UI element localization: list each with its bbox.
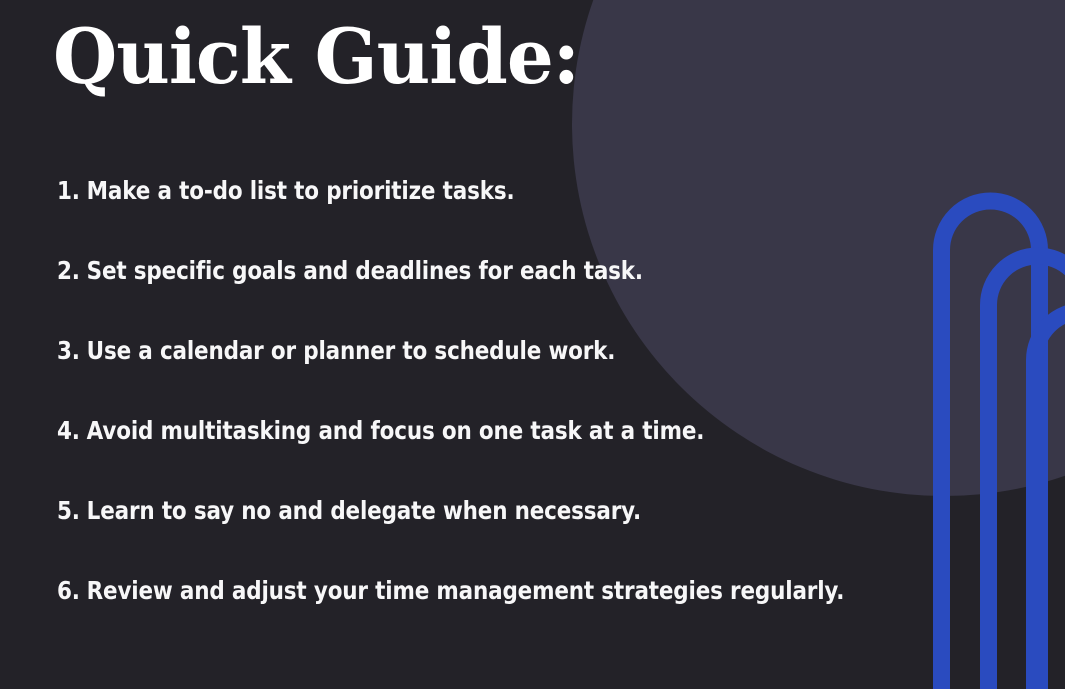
list-item-label: Make a to-do list to prioritize tasks.: [87, 178, 515, 203]
list-item: 2. Set specific goals and deadlines for …: [57, 230, 883, 310]
list-item-label: Learn to say no and delegate when necess…: [87, 498, 641, 523]
list-item-label: Review and adjust your time management s…: [87, 578, 845, 603]
list-item-number: 5.: [57, 498, 80, 523]
poster-canvas: Quick Guide: 1. Make a to-do list to pri…: [0, 0, 1065, 689]
list-item-number: 1.: [57, 178, 80, 203]
list-item: 1. Make a to-do list to prioritize tasks…: [57, 150, 883, 230]
page-title: Quick Guide:: [53, 19, 579, 95]
list-item: 3. Use a calendar or planner to schedule…: [57, 310, 883, 390]
poster-content: Quick Guide: 1. Make a to-do list to pri…: [0, 0, 1065, 689]
list-item-number: 4.: [57, 418, 80, 443]
list-item-label: Use a calendar or planner to schedule wo…: [87, 338, 616, 363]
list-item-number: 6.: [57, 578, 80, 603]
steps-list: 1. Make a to-do list to prioritize tasks…: [57, 150, 1017, 630]
list-item: 6. Review and adjust your time managemen…: [57, 550, 883, 630]
list-item-number: 2.: [57, 258, 80, 283]
list-item: 5. Learn to say no and delegate when nec…: [57, 470, 883, 550]
list-item-number: 3.: [57, 338, 80, 363]
list-item-label: Avoid multitasking and focus on one task…: [87, 418, 705, 443]
list-item: 4. Avoid multitasking and focus on one t…: [57, 390, 883, 470]
list-item-label: Set specific goals and deadlines for eac…: [87, 258, 643, 283]
